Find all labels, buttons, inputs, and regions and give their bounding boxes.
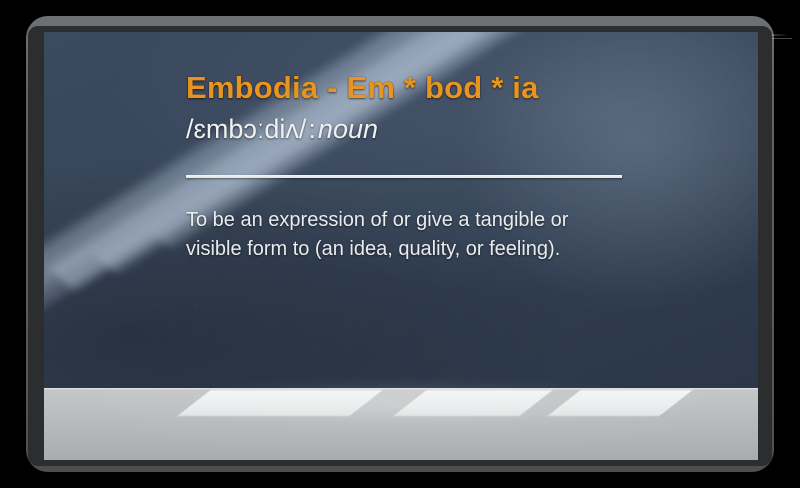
screenshot-stage: Embodia - Em * bod * ia /ɛmbɔːdiʌ/:noun … bbox=[0, 0, 800, 488]
screen-content: Embodia - Em * bod * ia /ɛmbɔːdiʌ/:noun … bbox=[44, 32, 758, 460]
part-of-speech: noun bbox=[318, 114, 378, 144]
headword-title: Embodia - Em * bod * ia bbox=[186, 70, 656, 106]
ipa-transcription: /ɛmbɔːdiʌ/ bbox=[186, 114, 306, 144]
divider-rule bbox=[186, 175, 622, 178]
dictionary-entry: Embodia - Em * bod * ia /ɛmbɔːdiʌ/:noun … bbox=[186, 70, 656, 264]
pronunciation-line: /ɛmbɔːdiʌ/:noun bbox=[186, 114, 656, 145]
floor-light-patch-1 bbox=[177, 390, 382, 416]
pronunciation-separator: : bbox=[306, 114, 318, 144]
definition-text: To be an expression of or give a tangibl… bbox=[186, 206, 586, 264]
